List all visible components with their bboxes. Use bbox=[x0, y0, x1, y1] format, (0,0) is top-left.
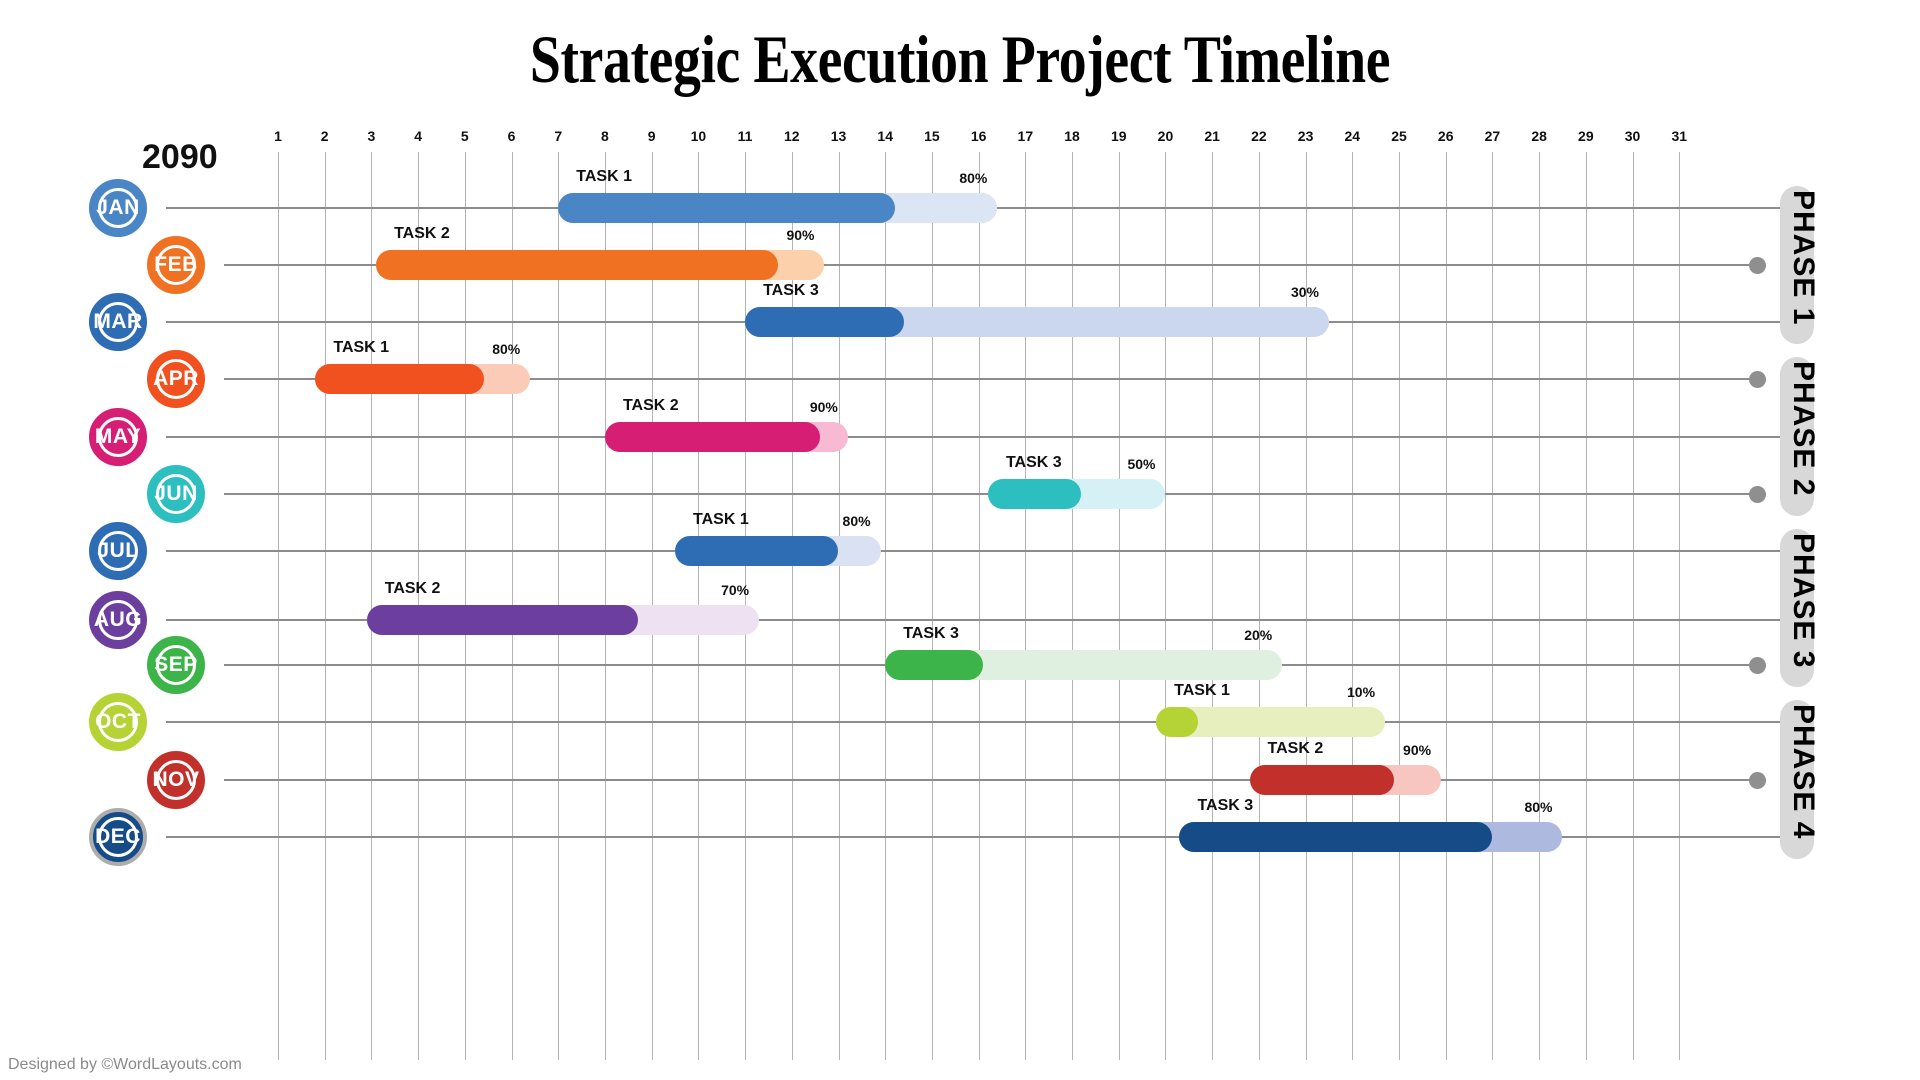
day-tick-14: 14 bbox=[865, 128, 905, 144]
phase-label-1: PHASE 1 bbox=[1786, 190, 1820, 325]
bar-progress-fill bbox=[558, 193, 894, 223]
bar-progress-fill bbox=[1179, 822, 1492, 852]
month-circle-feb[interactable]: FEB bbox=[147, 236, 205, 294]
gantt-bar-may[interactable] bbox=[605, 422, 848, 452]
gantt-bar-mar[interactable] bbox=[745, 307, 1329, 337]
task-label-feb: TASK 2 bbox=[394, 225, 450, 243]
bar-progress-fill bbox=[1156, 707, 1198, 737]
row-connector-line bbox=[166, 436, 1796, 438]
gantt-bar-nov[interactable] bbox=[1250, 765, 1442, 795]
month-label: FEB bbox=[154, 253, 198, 277]
bar-progress-fill bbox=[367, 605, 638, 635]
progress-percent-jun: 50% bbox=[1127, 456, 1155, 472]
grid-line-day-26 bbox=[1446, 152, 1447, 1060]
month-label: NOV bbox=[152, 768, 199, 792]
grid-line-day-21 bbox=[1212, 152, 1213, 1060]
day-tick-18: 18 bbox=[1052, 128, 1092, 144]
month-circle-jan[interactable]: JAN bbox=[89, 179, 147, 237]
task-label-oct: TASK 1 bbox=[1174, 682, 1230, 700]
day-tick-5: 5 bbox=[445, 128, 485, 144]
day-tick-31: 31 bbox=[1659, 128, 1699, 144]
day-tick-2: 2 bbox=[305, 128, 345, 144]
phase-label-2: PHASE 2 bbox=[1786, 361, 1820, 496]
day-tick-29: 29 bbox=[1566, 128, 1606, 144]
month-label: JUL bbox=[97, 539, 138, 563]
progress-percent-may: 90% bbox=[810, 399, 838, 415]
progress-percent-nov: 90% bbox=[1403, 742, 1431, 758]
gantt-bar-jul[interactable] bbox=[675, 536, 881, 566]
grid-line-day-2 bbox=[325, 152, 326, 1060]
month-circle-aug[interactable]: AUG bbox=[89, 591, 147, 649]
month-circle-oct[interactable]: OCT bbox=[89, 693, 147, 751]
grid-line-day-14 bbox=[885, 152, 886, 1060]
gantt-bar-aug[interactable] bbox=[367, 605, 759, 635]
month-circle-mar[interactable]: MAR bbox=[89, 293, 147, 351]
phase-label-4: PHASE 4 bbox=[1786, 704, 1820, 839]
row-connector-line bbox=[166, 550, 1796, 552]
bar-progress-fill bbox=[988, 479, 1081, 509]
gantt-bar-dec[interactable] bbox=[1179, 822, 1562, 852]
task-label-nov: TASK 2 bbox=[1268, 740, 1324, 758]
day-tick-28: 28 bbox=[1519, 128, 1559, 144]
day-tick-25: 25 bbox=[1379, 128, 1419, 144]
gantt-bar-apr[interactable] bbox=[315, 364, 530, 394]
progress-percent-jan: 80% bbox=[959, 170, 987, 186]
month-circle-apr[interactable]: APR bbox=[147, 350, 205, 408]
progress-percent-mar: 30% bbox=[1291, 284, 1319, 300]
grid-line-day-30 bbox=[1633, 152, 1634, 1060]
day-tick-3: 3 bbox=[351, 128, 391, 144]
progress-percent-aug: 70% bbox=[721, 582, 749, 598]
day-tick-4: 4 bbox=[398, 128, 438, 144]
task-label-mar: TASK 3 bbox=[763, 282, 819, 300]
day-tick-13: 13 bbox=[819, 128, 859, 144]
grid-line-day-16 bbox=[979, 152, 980, 1060]
bar-progress-fill bbox=[376, 250, 778, 280]
row-end-dot bbox=[1749, 486, 1766, 503]
grid-line-day-29 bbox=[1586, 152, 1587, 1060]
task-label-jun: TASK 3 bbox=[1006, 454, 1062, 472]
row-end-dot bbox=[1749, 371, 1766, 388]
month-label: MAR bbox=[93, 310, 142, 334]
day-tick-1: 1 bbox=[258, 128, 298, 144]
grid-line-day-1 bbox=[278, 152, 279, 1060]
progress-percent-sep: 20% bbox=[1244, 627, 1272, 643]
row-end-dot bbox=[1749, 772, 1766, 789]
row-end-dot bbox=[1749, 657, 1766, 674]
day-tick-30: 30 bbox=[1613, 128, 1653, 144]
grid-line-day-22 bbox=[1259, 152, 1260, 1060]
grid-line-day-19 bbox=[1119, 152, 1120, 1060]
phase-label-3: PHASE 3 bbox=[1786, 533, 1820, 668]
progress-percent-feb: 90% bbox=[786, 227, 814, 243]
gantt-bar-oct[interactable] bbox=[1156, 707, 1385, 737]
day-tick-6: 6 bbox=[492, 128, 532, 144]
task-label-apr: TASK 1 bbox=[333, 339, 389, 357]
footer-credit: Designed by ©WordLayouts.com bbox=[8, 1056, 242, 1074]
month-label: DEC bbox=[95, 825, 141, 849]
grid-line-day-27 bbox=[1492, 152, 1493, 1060]
day-tick-24: 24 bbox=[1332, 128, 1372, 144]
grid-line-day-18 bbox=[1072, 152, 1073, 1060]
month-circle-dec[interactable]: DEC bbox=[89, 808, 147, 866]
day-tick-22: 22 bbox=[1239, 128, 1279, 144]
bar-progress-fill bbox=[885, 650, 983, 680]
month-circle-may[interactable]: MAY bbox=[89, 408, 147, 466]
page-title: Strategic Execution Project Timeline bbox=[173, 20, 1747, 99]
grid-line-day-31 bbox=[1679, 152, 1680, 1060]
month-label: JUN bbox=[154, 482, 198, 506]
month-circle-sep[interactable]: SEP bbox=[147, 636, 205, 694]
day-tick-7: 7 bbox=[538, 128, 578, 144]
task-label-jan: TASK 1 bbox=[576, 168, 632, 186]
day-tick-21: 21 bbox=[1192, 128, 1232, 144]
day-tick-12: 12 bbox=[772, 128, 812, 144]
month-circle-nov[interactable]: NOV bbox=[147, 751, 205, 809]
day-tick-16: 16 bbox=[959, 128, 999, 144]
gantt-bar-jan[interactable] bbox=[558, 193, 997, 223]
day-tick-9: 9 bbox=[632, 128, 672, 144]
row-connector-line bbox=[224, 779, 1756, 781]
grid-line-day-13 bbox=[839, 152, 840, 1060]
day-tick-26: 26 bbox=[1426, 128, 1466, 144]
gantt-bar-sep[interactable] bbox=[885, 650, 1282, 680]
progress-percent-dec: 80% bbox=[1524, 799, 1552, 815]
day-tick-15: 15 bbox=[912, 128, 952, 144]
day-tick-11: 11 bbox=[725, 128, 765, 144]
grid-line-day-24 bbox=[1352, 152, 1353, 1060]
day-tick-23: 23 bbox=[1286, 128, 1326, 144]
task-label-may: TASK 2 bbox=[623, 397, 679, 415]
month-circle-jul[interactable]: JUL bbox=[89, 522, 147, 580]
month-label: OCT bbox=[95, 710, 141, 734]
progress-percent-apr: 80% bbox=[492, 341, 520, 357]
gantt-bar-jun[interactable] bbox=[988, 479, 1165, 509]
day-tick-10: 10 bbox=[678, 128, 718, 144]
grid-line-day-17 bbox=[1025, 152, 1026, 1060]
month-label: SEP bbox=[154, 653, 198, 677]
day-tick-8: 8 bbox=[585, 128, 625, 144]
month-circle-jun[interactable]: JUN bbox=[147, 465, 205, 523]
bar-progress-fill bbox=[675, 536, 838, 566]
day-tick-27: 27 bbox=[1472, 128, 1512, 144]
month-label: AUG bbox=[94, 608, 142, 632]
row-end-dot bbox=[1749, 257, 1766, 274]
progress-percent-oct: 10% bbox=[1347, 684, 1375, 700]
bar-progress-fill bbox=[745, 307, 904, 337]
month-label: APR bbox=[153, 367, 199, 391]
grid-line-day-15 bbox=[932, 152, 933, 1060]
gantt-bar-feb[interactable] bbox=[376, 250, 824, 280]
grid-line-day-28 bbox=[1539, 152, 1540, 1060]
bar-progress-fill bbox=[315, 364, 483, 394]
bar-progress-fill bbox=[605, 422, 820, 452]
day-tick-19: 19 bbox=[1099, 128, 1139, 144]
grid-line-day-25 bbox=[1399, 152, 1400, 1060]
year-label: 2090 bbox=[142, 138, 218, 177]
row-connector-line bbox=[166, 721, 1796, 723]
day-tick-20: 20 bbox=[1145, 128, 1185, 144]
task-label-aug: TASK 2 bbox=[385, 580, 441, 598]
task-label-dec: TASK 3 bbox=[1197, 797, 1253, 815]
task-label-jul: TASK 1 bbox=[693, 511, 749, 529]
bar-progress-fill bbox=[1250, 765, 1395, 795]
month-label: JAN bbox=[96, 196, 140, 220]
task-label-sep: TASK 3 bbox=[903, 625, 959, 643]
grid-line-day-20 bbox=[1165, 152, 1166, 1060]
day-tick-17: 17 bbox=[1005, 128, 1045, 144]
progress-percent-jul: 80% bbox=[843, 513, 871, 529]
month-label: MAY bbox=[95, 425, 141, 449]
